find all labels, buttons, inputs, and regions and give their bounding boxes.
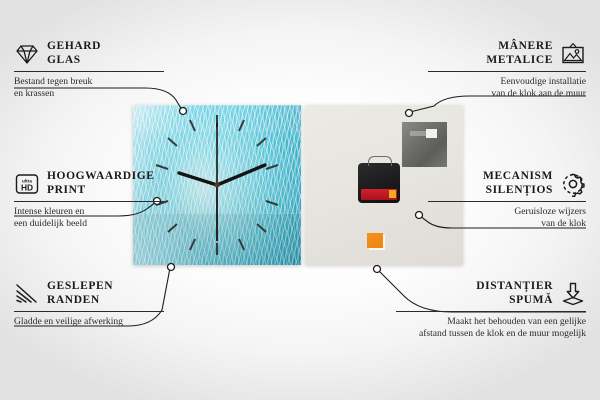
spacer-down-arrow-icon (560, 281, 586, 307)
feature-title: HOOGWAARDIGE PRINT (47, 170, 155, 197)
feature-subtitle: Intense kleuren en een duidelijk beeld (14, 206, 164, 229)
feature-subtitle: Bestand tegen breuk en krassen (14, 76, 164, 99)
diamond-icon (14, 41, 40, 67)
feature-gehard-glas: GEHARD GLAS Bestand tegen breuk en krass… (14, 40, 164, 99)
feature-title: GESLEPEN RANDEN (47, 280, 113, 307)
divider (428, 201, 586, 202)
divider (428, 71, 586, 72)
feature-geslepen-randen: GESLEPEN RANDEN Gladde en veilige afwerk… (14, 280, 164, 328)
beveled-edge-icon (14, 281, 40, 307)
feature-subtitle: Eenvoudige installatie van de klok aan d… (428, 76, 586, 99)
svg-text:HD: HD (21, 182, 33, 192)
feature-distantier-spuma: DISTANȚIER SPUMĂ Maakt het behouden van … (396, 280, 586, 339)
foam-spacer (367, 233, 383, 248)
product-photo (133, 105, 463, 265)
divider (14, 71, 164, 72)
divider (14, 311, 164, 312)
infographic-canvas: GEHARD GLAS Bestand tegen breuk en krass… (0, 0, 600, 400)
feature-title: DISTANȚIER SPUMĂ (476, 280, 553, 307)
gear-icon (560, 171, 586, 197)
feature-mecanism-silentios: MECANISM SILENȚIOS Geruisloze wijzers va… (428, 170, 586, 229)
feature-title: MECANISM SILENȚIOS (483, 170, 553, 197)
clock-mechanism (358, 163, 400, 203)
feature-title: GEHARD GLAS (47, 40, 101, 67)
battery (361, 189, 397, 200)
hanger-loop (368, 156, 392, 166)
feature-subtitle: Maakt het behouden van een gelijke afsta… (396, 316, 586, 339)
ultra-hd-icon: ultra HD (14, 171, 40, 197)
divider (396, 311, 586, 312)
feature-hoogwaardige-print: ultra HD HOOGWAARDIGE PRINT Intense kleu… (14, 170, 164, 229)
picture-hanger-icon (560, 41, 586, 67)
divider (14, 201, 164, 202)
metal-hanger-plate (402, 122, 447, 167)
feature-manere-metalice: MÂNERE METALICE Eenvoudige installatie v… (428, 40, 586, 99)
feature-subtitle: Geruisloze wijzers van de klok (428, 206, 586, 229)
feature-subtitle: Gladde en veilige afwerking (14, 316, 164, 328)
feature-title: MÂNERE METALICE (486, 40, 553, 67)
